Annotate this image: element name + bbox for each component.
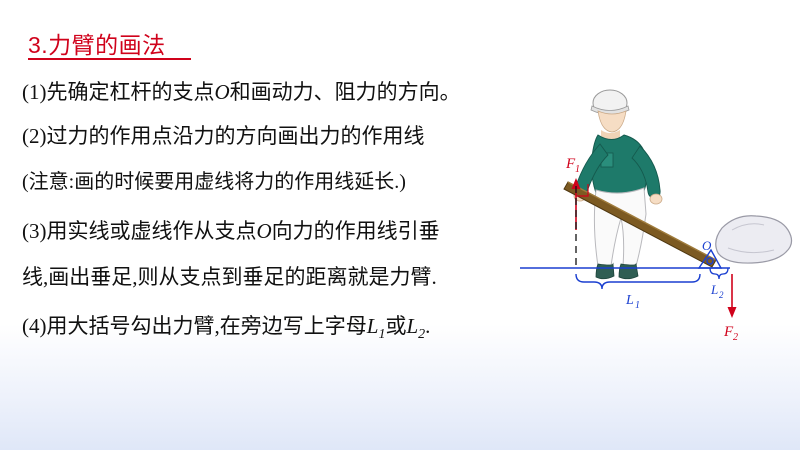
body-line-6-before: (4)用大括号勾出力臂,在旁边写上字母: [22, 314, 367, 338]
page-title: 3.力臂的画法: [28, 26, 166, 60]
body-line-6-middle: 或: [385, 314, 406, 338]
arm-l2-label: L: [710, 282, 718, 297]
body-line-4: (3)用实线或虚线作从支点O向力的作用线引垂: [22, 221, 440, 242]
force-f2-arrow: [728, 274, 737, 318]
force-f2-label-sub: 2: [733, 332, 738, 343]
body-line-1-part-a: (1)先确定杠杆的支点: [22, 80, 215, 104]
body-line-5: 线,画出垂足,则从支点到垂足的距离就是力臂.: [22, 267, 437, 288]
body-line-6-after: .: [425, 314, 430, 338]
arm-l1-label-sub: 1: [635, 300, 640, 311]
body-line-2: (2)过力的作用点沿力的方向画出力的作用线: [22, 126, 425, 147]
worker-figure: [574, 90, 662, 279]
body-line-6: (4)用大括号勾出力臂,在旁边写上字母L1或L2.: [22, 316, 430, 342]
fulcrum-symbol-1: O: [215, 80, 230, 104]
body-line-1-part-b: 和画动力、阻力的方向。: [230, 80, 461, 104]
fulcrum-symbol-2: O: [257, 219, 272, 243]
lever-illustration: F 1 L 1 O L 2 F: [470, 78, 800, 348]
force-f1-label-sub: 1: [575, 164, 580, 175]
arm-symbol-l1: L: [367, 314, 379, 338]
body-line-4-part-b: 向力的作用线引垂: [272, 219, 440, 243]
body-line-4-part-a: (3)用实线或虚线作从支点: [22, 219, 257, 243]
arm-l2-brace: [710, 268, 728, 279]
body-line-1: (1)先确定杠杆的支点O和画动力、阻力的方向。: [22, 82, 461, 103]
body-line-3: (注意:画的时候要用虚线将力的作用线延长.): [22, 172, 406, 192]
arm-symbol-l2: L: [406, 314, 418, 338]
slide-canvas: 3.力臂的画法 (1)先确定杠杆的支点O和画动力、阻力的方向。 (2)过力的作用…: [0, 0, 800, 450]
arm-l2-label-sub: 2: [719, 290, 724, 300]
title-underline: [28, 58, 191, 60]
arm-l1-label: L: [625, 293, 634, 308]
fulcrum-label: O: [702, 238, 712, 253]
rock: [716, 216, 792, 263]
